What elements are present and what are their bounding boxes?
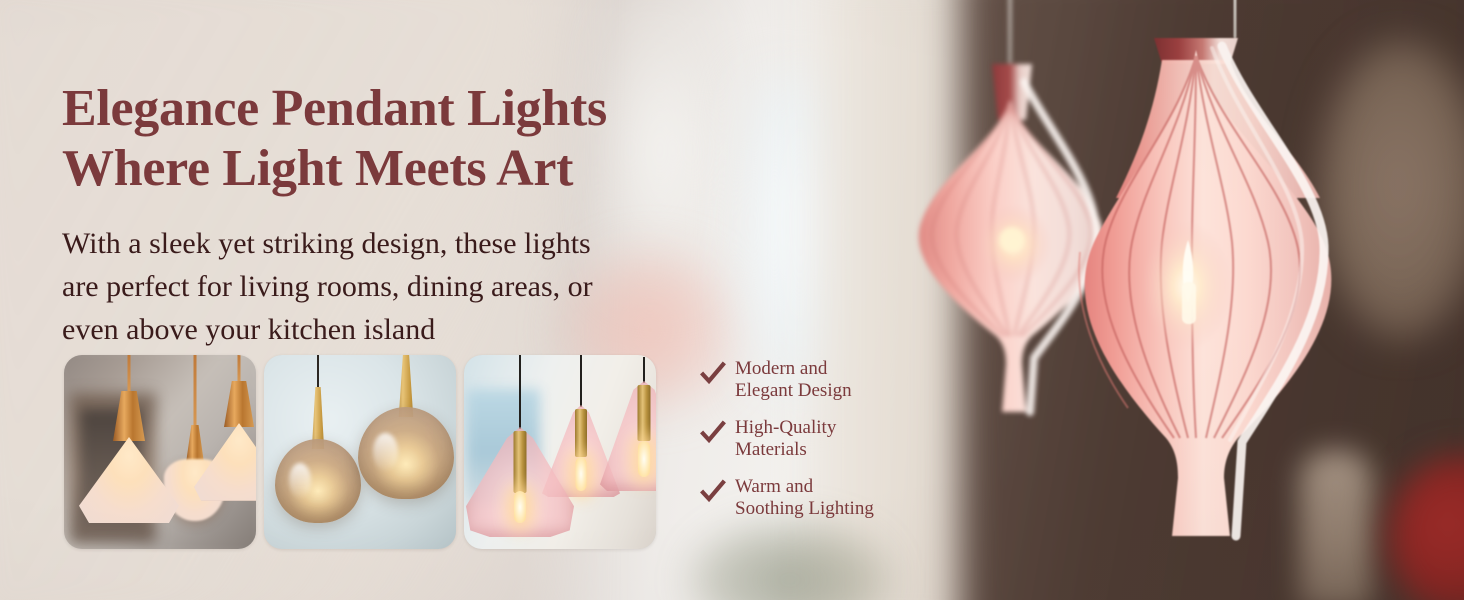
check-icon [700,479,726,505]
pink-lamp-right [600,357,656,549]
feature-line-1: High-Quality [735,417,836,439]
pink-lamp-left [466,355,574,549]
subtitle-line-1: With a sleek yet striking design, these … [62,223,782,266]
check-icon [700,420,726,446]
thumbnail-image-3 [464,355,656,549]
teardrop-lamp-left [270,355,366,549]
feature-line-2: Soothing Lighting [735,498,874,520]
page-title: Elegance Pendant Lights Where Light Meet… [62,79,862,200]
thumbnail-image-1 [64,355,256,549]
feature-item-modern-elegant-design: Modern and Elegant Design [700,358,950,403]
subtitle-line-2: are perfect for living rooms, dining are… [62,266,782,309]
headline-line-2: Where Light Meets Art [62,139,862,199]
thumbnail-golden-teardrop-pendant-lights[interactable] [264,355,456,549]
check-icon [700,361,726,387]
subtitle-text: With a sleek yet striking design, these … [62,223,782,352]
feature-line-2: Materials [735,439,836,461]
feature-line-1: Modern and [735,358,852,380]
promo-banner: Elegance Pendant Lights Where Light Meet… [0,0,1464,600]
subtitle-line-3: even above your kitchen island [62,309,782,352]
feature-list: Modern and Elegant Design High-Quality M… [700,358,950,520]
lamp-shade-svg [1070,0,1400,580]
feature-label: High-Quality Materials [735,417,836,462]
teardrop-lamp-right [354,355,456,549]
thumbnail-gallery [64,355,656,549]
feature-label: Modern and Elegant Design [735,358,852,403]
feature-line-1: Warm and [735,476,874,498]
feature-label: Warm and Soothing Lighting [735,476,874,521]
headline-line-1: Elegance Pendant Lights [62,79,862,139]
thumbnail-amber-cone-pendant-lights[interactable] [64,355,256,549]
pendant-lamp-right [194,355,256,549]
thumbnail-pink-glass-pendant-lights[interactable] [464,355,656,549]
thumbnail-image-2 [264,355,456,549]
feature-item-high-quality-materials: High-Quality Materials [700,417,950,462]
large-ribbed-pendant-lamp [1070,0,1400,580]
banner-content: Elegance Pendant Lights Where Light Meet… [0,0,960,600]
feature-item-warm-soothing-lighting: Warm and Soothing Lighting [700,476,950,521]
feature-line-2: Elegant Design [735,380,852,402]
pendant-lamp-left [78,355,180,549]
